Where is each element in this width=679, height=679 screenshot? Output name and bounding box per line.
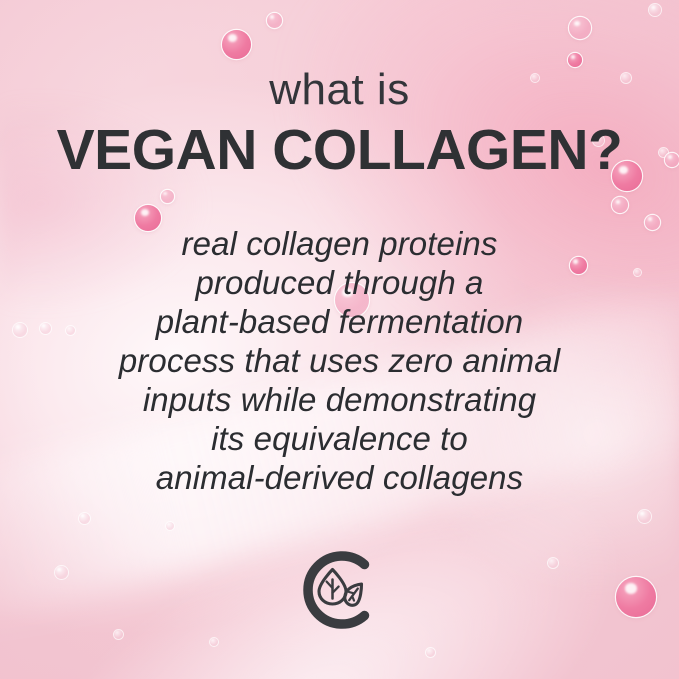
body-line: process that uses zero animal — [0, 341, 679, 380]
page-title: VEGAN COLLAGEN? — [0, 122, 679, 179]
eyebrow-text: what is — [0, 68, 679, 112]
poster-canvas: what is VEGAN COLLAGEN? real collagen pr… — [0, 0, 679, 679]
body-line: produced through a — [0, 263, 679, 302]
brand-logo — [294, 544, 386, 636]
body-line: plant-based fermentation — [0, 302, 679, 341]
body-line: animal-derived collagens — [0, 458, 679, 497]
body-line: inputs while demonstrating — [0, 380, 679, 419]
body-line: its equivalence to — [0, 419, 679, 458]
body-paragraph: real collagen proteinsproduced through a… — [0, 224, 679, 497]
body-line: real collagen proteins — [0, 224, 679, 263]
